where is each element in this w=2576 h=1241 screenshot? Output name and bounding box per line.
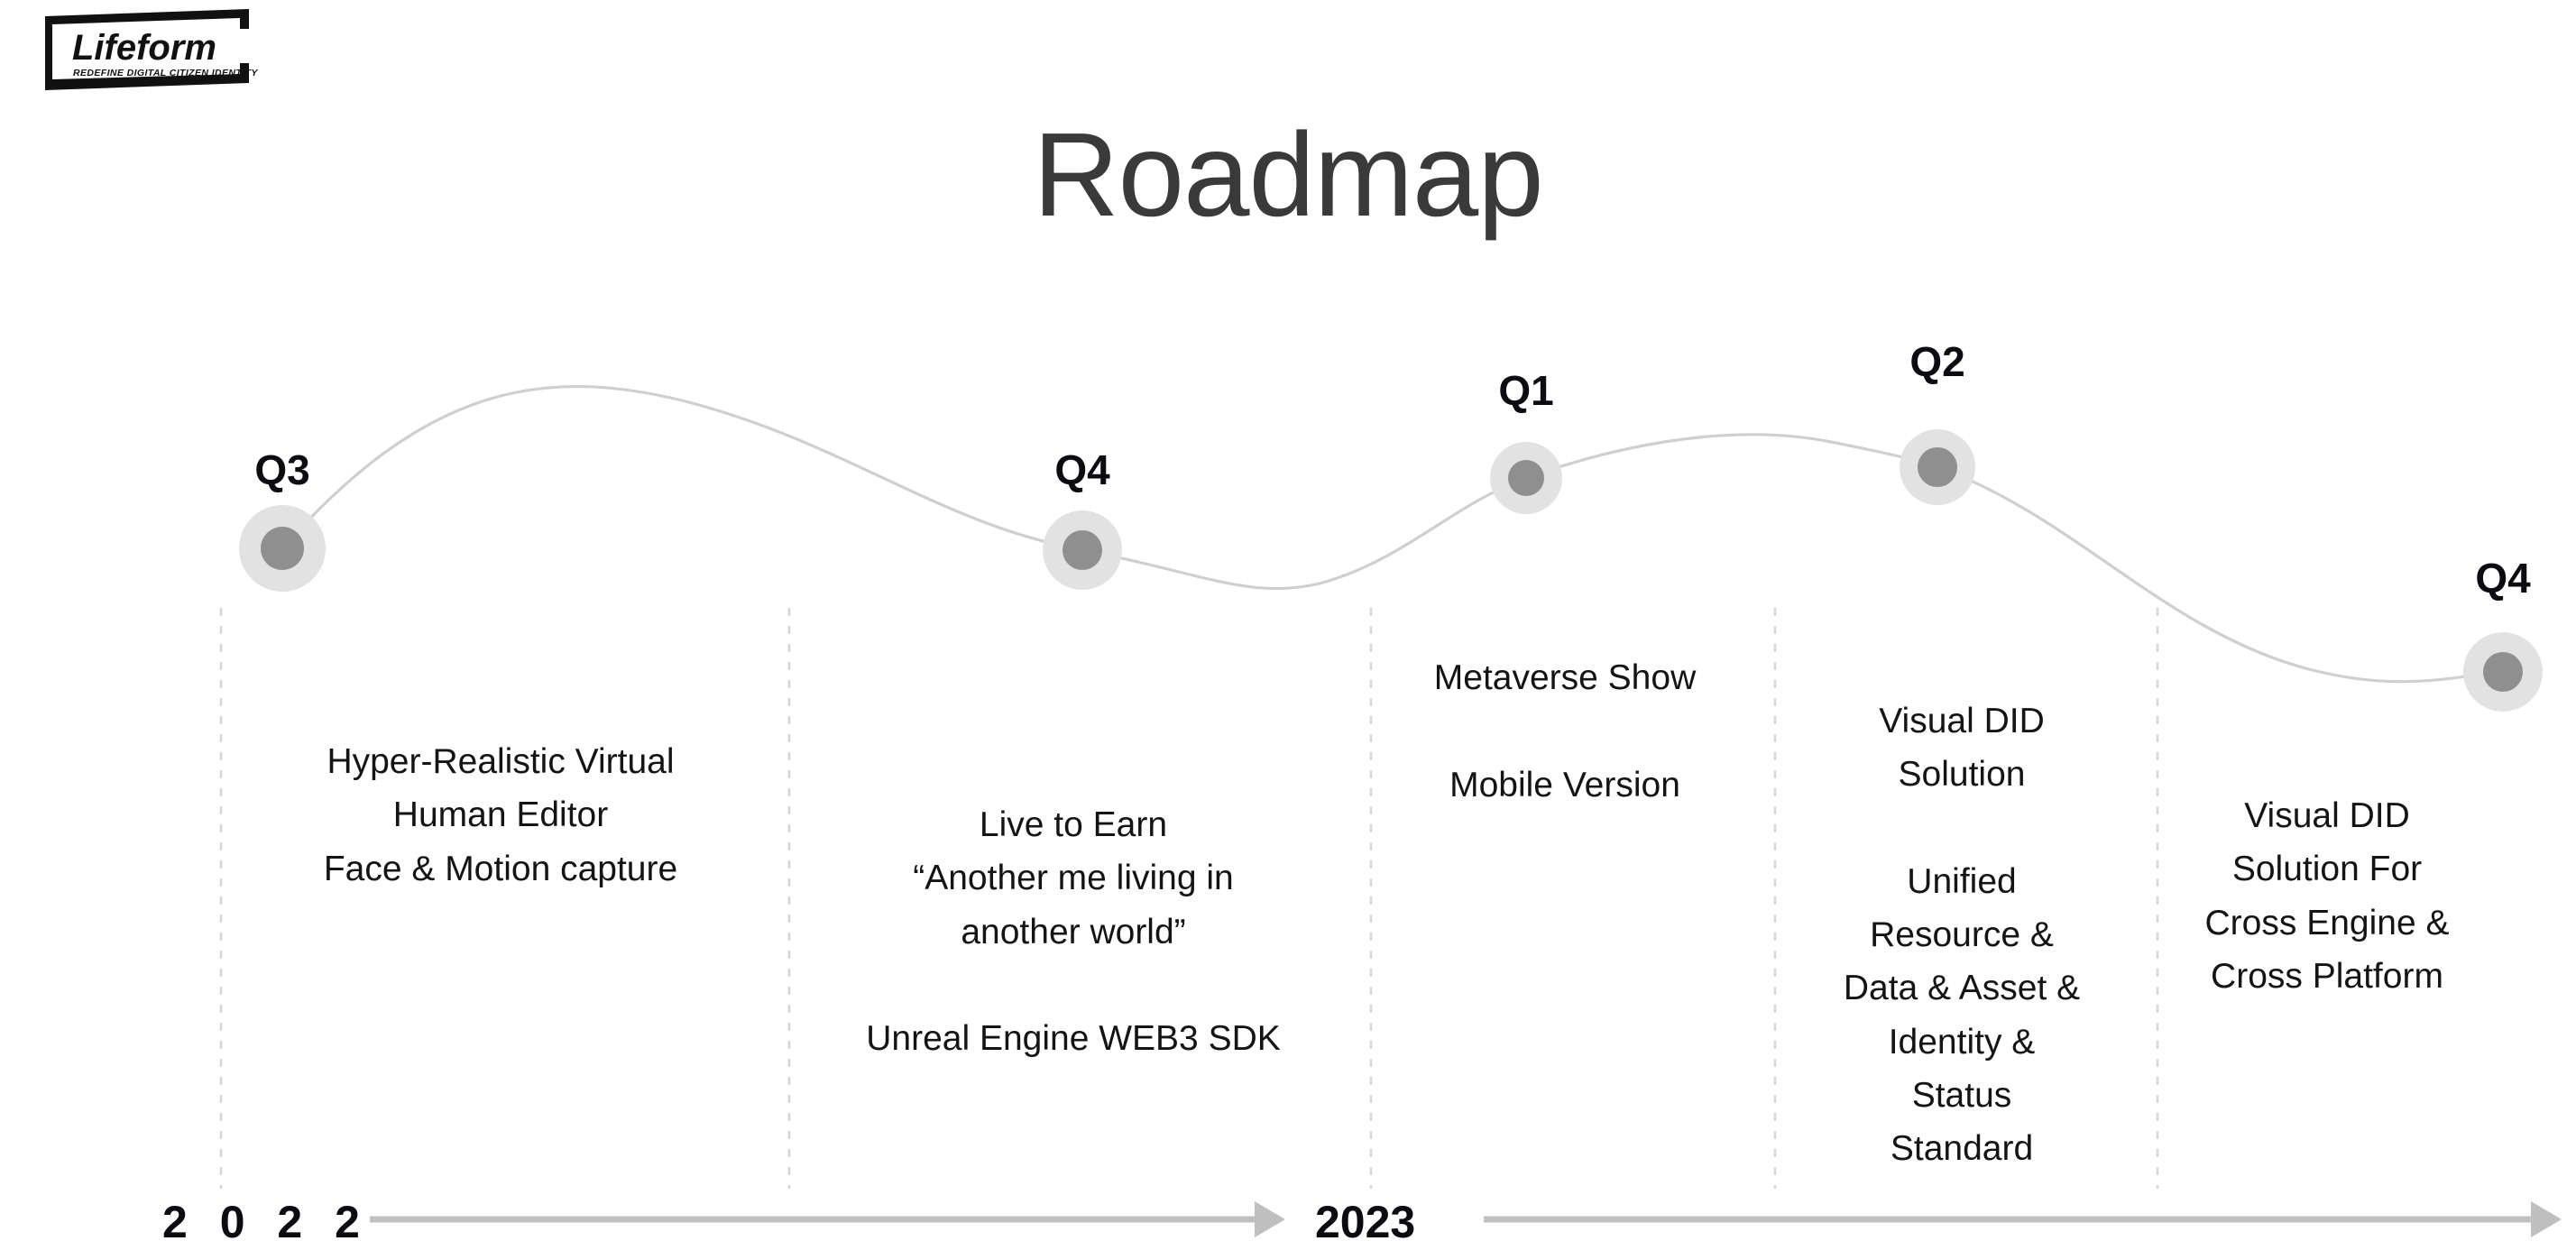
quarter-label-q4-2023: Q4	[2475, 557, 2530, 599]
milestone-text-q4-2022: Live to Earn “Another me living in anoth…	[866, 798, 1281, 1065]
quarter-label-q4-2022: Q4	[1054, 449, 1109, 491]
logo-wordmark: Lifeform	[72, 28, 216, 68]
marker-inner-dot	[1063, 530, 1102, 570]
timeline-arrow	[1484, 1201, 2562, 1237]
milestone-text-q4-2023: Visual DID Solution For Cross Engine & C…	[2205, 789, 2450, 1003]
milestone-text-q2-2023: Visual DID Solution Unified Resource & D…	[1844, 694, 2080, 1175]
marker-outer-circle	[1490, 442, 1562, 514]
marker-outer-circle	[2463, 632, 2543, 712]
marker-outer-circle	[1043, 510, 1122, 590]
quarter-label-q2-2023: Q2	[1909, 341, 1964, 382]
marker-inner-dot	[1508, 460, 1544, 496]
milestone-text-q3: Hyper-Realistic Virtual Human Editor Fac…	[324, 735, 677, 896]
milestone-marker[interactable]	[1490, 442, 1562, 514]
year-label-2022: 2 0 2 2	[162, 1200, 370, 1241]
lifeform-logo: Lifeform REDEFINE DIGITAL CITIZEN IDENTI…	[40, 7, 274, 96]
milestone-marker[interactable]	[1900, 429, 1975, 505]
timeline-arrow	[370, 1201, 1285, 1237]
marker-outer-circle	[1900, 429, 1975, 505]
marker-inner-dot	[261, 527, 304, 570]
arrow-head-icon	[2531, 1201, 2562, 1237]
marker-inner-dot	[2483, 652, 2523, 692]
roadmap-curve	[282, 387, 2503, 682]
quarter-label-q1-2023: Q1	[1498, 370, 1553, 411]
milestone-marker[interactable]	[1043, 510, 1122, 590]
marker-inner-dot	[1918, 447, 1957, 487]
timeline-arrows	[370, 1201, 2562, 1237]
milestone-text-q1-2023: Metaverse Show Mobile Version	[1434, 651, 1696, 812]
milestone-marker[interactable]	[239, 505, 326, 592]
marker-outer-circle	[239, 505, 326, 592]
arrow-head-icon	[1255, 1201, 1285, 1237]
year-label-2023: 2023	[1315, 1200, 1415, 1241]
roadmap-slide: Lifeform REDEFINE DIGITAL CITIZEN IDENTI…	[0, 0, 2576, 1241]
logo-mark: Lifeform REDEFINE DIGITAL CITIZEN IDENTI…	[40, 7, 274, 96]
quarter-label-q3: Q3	[254, 449, 309, 491]
page-title: Roadmap	[0, 115, 2576, 234]
milestone-markers	[239, 429, 2543, 712]
logo-tagline: REDEFINE DIGITAL CITIZEN IDENTITY	[73, 68, 258, 78]
milestone-marker[interactable]	[2463, 632, 2543, 712]
